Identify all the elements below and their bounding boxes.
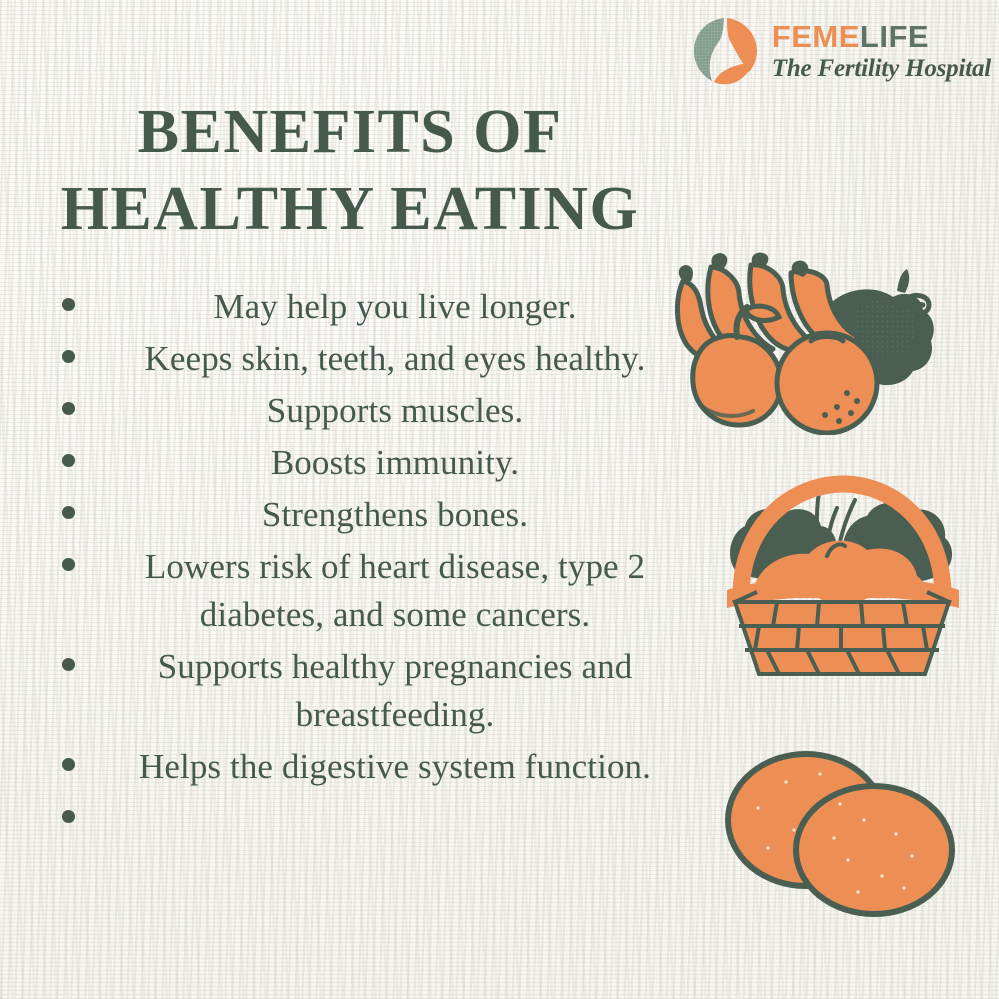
bullet-icon xyxy=(62,298,75,311)
page-title: BENEFITS OF HEALTHY EATING xyxy=(0,94,700,249)
benefits-list: May help you live longer. Keeps skin, te… xyxy=(40,283,680,825)
bullet-icon xyxy=(62,350,75,363)
brand-logo: FEMELIFE The Fertility Hospital xyxy=(688,14,991,88)
brand-wordmark-feme: FEME xyxy=(772,19,860,54)
bullet-icon xyxy=(62,506,75,519)
bullet-icon xyxy=(62,758,75,771)
list-item: Keeps skin, teeth, and eyes healthy. xyxy=(40,335,680,383)
vegetable-basket-illustration xyxy=(697,462,987,677)
list-item: May help you live longer. xyxy=(40,283,680,331)
bullet-icon xyxy=(62,558,75,571)
list-item-label: Strengthens bones. xyxy=(110,491,680,539)
list-item-label: Helps the digestive system function. xyxy=(110,743,680,791)
list-item-label: Boosts immunity. xyxy=(110,439,680,487)
list-item-label: May help you live longer. xyxy=(110,283,680,331)
list-item xyxy=(40,795,680,821)
bullet-icon xyxy=(62,810,75,823)
brand-tagline: The Fertility Hospital xyxy=(772,56,991,81)
poster-canvas: FEMELIFE The Fertility Hospital BENEFITS… xyxy=(0,0,999,999)
list-item: Supports healthy pregnancies and breastf… xyxy=(40,643,680,739)
brand-wordmark-life: LIFE xyxy=(860,19,929,54)
bullet-icon xyxy=(62,402,75,415)
femelife-logo-mark-icon xyxy=(688,14,762,88)
list-item: Lowers risk of heart disease, type 2 dia… xyxy=(40,543,680,639)
page-title-line-1: BENEFITS OF xyxy=(0,94,700,172)
page-title-line-2: HEALTHY EATING xyxy=(0,171,700,249)
bullet-icon xyxy=(62,454,75,467)
eggs-illustration xyxy=(698,742,983,922)
list-item: Supports muscles. xyxy=(40,387,680,435)
list-item: Boosts immunity. xyxy=(40,439,680,487)
brand-logo-text: FEMELIFE The Fertility Hospital xyxy=(772,21,991,81)
list-item-label: Supports healthy pregnancies and breastf… xyxy=(110,643,680,739)
list-item-label xyxy=(110,795,680,821)
list-item: Strengthens bones. xyxy=(40,491,680,539)
list-item: Helps the digestive system function. xyxy=(40,743,680,791)
fruits-illustration xyxy=(661,245,991,435)
list-item-label: Keeps skin, teeth, and eyes healthy. xyxy=(110,335,680,383)
list-item-label: Supports muscles. xyxy=(110,387,680,435)
list-item-label: Lowers risk of heart disease, type 2 dia… xyxy=(110,543,680,639)
bullet-icon xyxy=(62,658,75,671)
brand-wordmark: FEMELIFE xyxy=(772,21,991,52)
